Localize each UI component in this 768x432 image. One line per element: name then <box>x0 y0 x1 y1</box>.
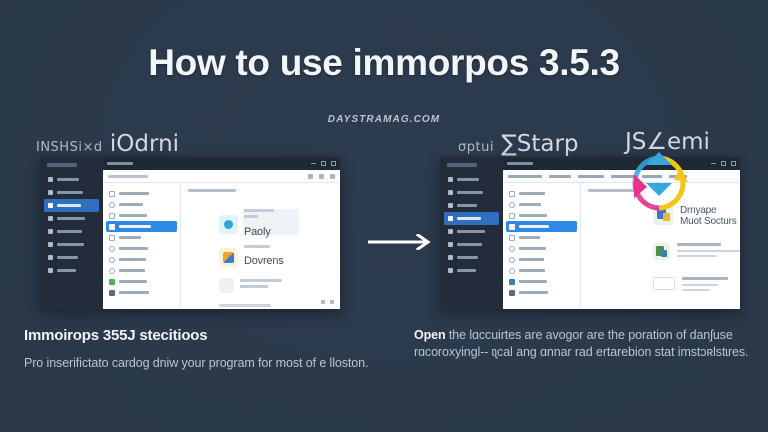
rail-item-icon <box>448 190 453 195</box>
tree-item-label <box>519 258 544 261</box>
list-view-icon[interactable] <box>321 300 325 304</box>
rail-item[interactable] <box>44 264 99 277</box>
minimize-icon[interactable] <box>711 163 716 164</box>
card-footnote <box>219 304 271 307</box>
result-card[interactable] <box>219 278 282 293</box>
rail-item[interactable] <box>44 225 99 238</box>
tree-item-label <box>119 192 149 195</box>
tree-item[interactable] <box>506 243 577 254</box>
folder-icon <box>509 202 515 208</box>
rail-item-selected[interactable] <box>444 212 499 225</box>
rail-item-label <box>457 217 481 220</box>
settings-row-desc <box>677 250 740 252</box>
folder-icon <box>109 213 115 219</box>
rail-item-icon <box>48 190 53 195</box>
overlay-label-left-big: iOdrni <box>110 131 179 157</box>
tree-item-label <box>519 192 545 195</box>
tree-item[interactable] <box>106 199 177 210</box>
rail-item-label <box>457 204 477 207</box>
close-icon[interactable] <box>731 161 736 166</box>
menu-item[interactable] <box>578 175 604 178</box>
tree-item-label <box>519 203 541 206</box>
screenshot-left[interactable]: Paoly Dovrens <box>40 157 340 309</box>
left-window: Paoly Dovrens <box>103 157 340 309</box>
tree-item[interactable] <box>506 276 577 287</box>
result-card-text <box>240 279 282 292</box>
rail-item-icon <box>448 229 453 234</box>
settings-row-heading <box>677 243 721 246</box>
tree-item-label <box>519 280 547 283</box>
left-tree-pane[interactable] <box>103 183 181 309</box>
tree-item[interactable] <box>506 232 577 243</box>
network-icon <box>109 290 115 296</box>
clock-icon <box>509 268 515 274</box>
caption-right-lead: Open <box>414 328 446 342</box>
rail-item-icon <box>448 255 453 260</box>
rail-item-label <box>57 230 82 233</box>
tree-item-label <box>519 291 548 294</box>
slide-canvas: How to use immorpos 3.5.3 DAYSTRAMAG.COM… <box>0 0 768 432</box>
blue-circle-icon <box>219 215 238 234</box>
rail-item-icon <box>48 177 53 182</box>
rail-item[interactable] <box>44 173 99 186</box>
rail-item[interactable] <box>44 212 99 225</box>
grid-view-icon[interactable] <box>330 300 334 304</box>
right-window-body: Drnyape Muot Socturs <box>503 183 740 309</box>
rail-item-label <box>57 256 78 259</box>
tree-item[interactable] <box>506 254 577 265</box>
tree-item-label <box>519 269 545 272</box>
result-card[interactable]: Dovrens <box>219 245 284 269</box>
tree-item-label <box>119 269 145 272</box>
rail-item-label <box>57 204 81 207</box>
rail-item-icon <box>48 203 53 208</box>
card-title: Paoly <box>244 226 271 238</box>
card-title: Dovrens <box>244 255 284 267</box>
rail-item-label <box>57 269 76 272</box>
caption-right-rest: the lɑccuirtes are avogor are the porati… <box>414 328 748 359</box>
settings-row-text <box>677 243 740 260</box>
overlay-label-left-small: INSHSi×d <box>36 140 103 155</box>
card-kicker <box>244 209 274 212</box>
tree-item[interactable] <box>506 287 577 298</box>
rail-item[interactable] <box>444 173 499 186</box>
drive-icon <box>509 224 515 230</box>
rail-item[interactable] <box>444 251 499 264</box>
left-window-body: Paoly Dovrens <box>103 183 340 309</box>
clock-icon <box>509 257 515 263</box>
caption-left-body: Pro inserifictato cardog dniw your progr… <box>24 355 376 372</box>
rail-item-label <box>57 217 85 220</box>
result-card-text: Paoly <box>244 209 274 240</box>
settings-row[interactable] <box>653 277 740 294</box>
rail-item[interactable] <box>444 264 499 277</box>
maximize-icon[interactable] <box>321 161 326 166</box>
shield-check-icon <box>653 243 670 260</box>
clock-icon <box>109 268 115 274</box>
tree-item[interactable] <box>106 254 177 265</box>
settings-row[interactable] <box>653 243 740 260</box>
rail-header <box>47 163 77 167</box>
result-card-text: Dovrens <box>244 245 284 269</box>
tree-item-label <box>519 225 549 228</box>
right-os-rail <box>440 157 503 309</box>
tree-item[interactable] <box>506 210 577 221</box>
amber-tools-icon <box>219 248 238 267</box>
rail-item-selected[interactable] <box>44 199 99 212</box>
rail-item-label <box>457 191 483 194</box>
tree-item[interactable] <box>106 287 177 298</box>
tree-item[interactable] <box>506 188 577 199</box>
rail-item[interactable] <box>44 238 99 251</box>
menu-item[interactable] <box>549 175 571 178</box>
page-title: How to use immorpos 3.5.3 <box>0 42 768 84</box>
card-subkicker <box>240 285 268 288</box>
caption-left: Immoirops 355J stecitioos Pro inserifict… <box>24 327 376 372</box>
right-window-titlebar[interactable] <box>503 157 740 170</box>
network-icon <box>509 290 515 296</box>
rail-item[interactable] <box>444 225 499 238</box>
rail-item-icon <box>448 242 453 247</box>
clock-icon <box>109 257 115 263</box>
tree-item[interactable] <box>106 210 177 221</box>
settings-row-desc <box>677 255 717 257</box>
minimize-icon[interactable] <box>311 163 316 164</box>
tree-item-label <box>519 236 540 239</box>
blank-card-icon <box>653 277 675 290</box>
rail-item-label <box>57 191 83 194</box>
card-kicker <box>244 245 270 248</box>
settings-row-heading <box>682 277 728 280</box>
card-kicker <box>240 279 282 282</box>
search-icon[interactable] <box>308 174 313 179</box>
rail-item-label <box>57 243 84 246</box>
folder-icon <box>509 235 515 241</box>
overlay-label-right-1-big: ∑Starp <box>501 131 578 157</box>
rail-item[interactable] <box>444 238 499 251</box>
tree-item-selected[interactable] <box>106 221 177 232</box>
search-input[interactable] <box>108 175 148 178</box>
tree-item-selected[interactable] <box>506 221 577 232</box>
folder-icon <box>109 202 115 208</box>
left-window-title-label <box>107 162 133 165</box>
grid-icon[interactable] <box>319 174 324 179</box>
left-window-titlebar[interactable] <box>103 157 340 170</box>
blue-drive-icon <box>509 279 515 285</box>
menu-item[interactable] <box>508 175 542 178</box>
tree-item[interactable] <box>106 232 177 243</box>
overlay-label-right-1: σptui ∑Starp <box>458 131 579 157</box>
settings-row-desc <box>682 289 710 291</box>
window-controls[interactable] <box>311 161 336 166</box>
rail-item-label <box>457 230 485 233</box>
caption-right-body: Open the lɑccuirtes are avogor are the p… <box>414 327 766 361</box>
right-window-title-label <box>507 162 533 165</box>
tree-item-label <box>119 291 149 294</box>
tree-item[interactable] <box>106 243 177 254</box>
tree-item-label <box>119 236 141 239</box>
left-os-rail <box>40 157 103 309</box>
rail-item-icon <box>48 216 53 221</box>
screenshot-right[interactable]: Drnyape Muot Socturs <box>440 157 740 309</box>
right-window-menubar[interactable] <box>503 170 740 183</box>
rail-item-icon <box>48 229 53 234</box>
rail-item-label <box>457 243 482 246</box>
tree-item-label <box>119 203 143 206</box>
right-window: Drnyape Muot Socturs <box>503 157 740 309</box>
rail-item-icon <box>48 268 53 273</box>
tree-item-label <box>119 247 148 250</box>
caption-right: Open the lɑccuirtes are avogor are the p… <box>414 327 766 361</box>
rail-item[interactable] <box>444 199 499 212</box>
left-content-pane: Paoly Dovrens <box>181 183 340 309</box>
tree-item[interactable] <box>506 199 577 210</box>
drive-icon <box>109 224 115 230</box>
right-tree-pane[interactable] <box>503 183 581 309</box>
rail-item-label <box>457 269 476 272</box>
tree-item-label <box>119 214 147 217</box>
rail-item-icon <box>448 268 453 273</box>
sync-swirl-icon <box>628 152 690 214</box>
tree-item-label <box>119 280 147 283</box>
overlay-label-right-1-small: σptui <box>458 140 494 155</box>
folder-icon <box>109 235 115 241</box>
chevron-folder-icon <box>109 191 115 197</box>
clock-icon <box>109 246 115 252</box>
green-drive-icon <box>109 279 115 285</box>
rail-item-icon <box>448 203 453 208</box>
rail-item[interactable] <box>44 186 99 199</box>
tree-item-label <box>519 214 547 217</box>
tree-item[interactable] <box>106 265 177 276</box>
menu-icon[interactable] <box>330 174 335 179</box>
rail-item[interactable] <box>44 251 99 264</box>
maximize-icon[interactable] <box>721 161 726 166</box>
tree-item[interactable] <box>106 188 177 199</box>
tree-item-label <box>119 258 146 261</box>
right-arrow-icon <box>368 234 440 250</box>
folder-icon <box>509 213 515 219</box>
rail-header <box>447 163 477 167</box>
rail-item-label <box>457 256 478 259</box>
tree-item-label <box>519 247 546 250</box>
settings-row-text <box>682 277 740 294</box>
plain-icon <box>219 278 234 293</box>
rail-item-icon <box>448 216 453 221</box>
card-subkicker <box>244 215 258 218</box>
toolbar-icons[interactable] <box>308 174 335 179</box>
site-watermark: DAYSTRAMAG.COM <box>0 114 768 125</box>
rail-item-icon <box>48 242 53 247</box>
overlay-label-left: INSHSi×d iOdrni <box>36 131 179 157</box>
rail-item-label <box>57 178 79 181</box>
result-card[interactable]: Paoly <box>219 209 274 240</box>
tree-item[interactable] <box>106 276 177 287</box>
close-icon[interactable] <box>331 161 336 166</box>
left-window-toolbar[interactable] <box>103 170 340 183</box>
caption-left-heading: Immoirops 355J stecitioos <box>24 327 376 344</box>
settings-row-desc <box>682 284 718 286</box>
tree-item-label <box>119 225 151 228</box>
content-heading <box>188 189 236 192</box>
chevron-folder-icon <box>509 191 515 197</box>
tree-item[interactable] <box>506 265 577 276</box>
rail-item-label <box>457 178 479 181</box>
window-controls[interactable] <box>711 161 736 166</box>
clock-icon <box>509 246 515 252</box>
rail-item-icon <box>48 255 53 260</box>
rail-item[interactable] <box>444 186 499 199</box>
rail-item-icon <box>448 177 453 182</box>
view-mode-icons[interactable] <box>321 300 334 304</box>
